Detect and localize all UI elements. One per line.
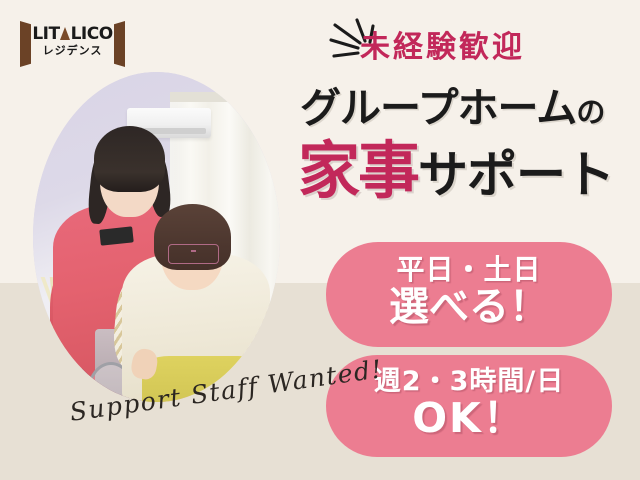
hero-photo [33,72,280,402]
headline-line-1-main: グループホーム [300,84,576,132]
weekday-weekend-pill-top: 平日・土日 [326,255,612,285]
hours-ok-pill-big: OK！ [326,396,612,442]
logo-wordmark-post: LICO [71,24,113,44]
headline-line-2: 家事サポート [298,140,614,202]
logo-subtitle: レジデンス [20,46,125,57]
weekday-weekend-pill[interactable]: 平日・土日 選べる！ [326,242,612,347]
headline-line-2-rest: サポート [418,146,614,204]
headline-kicker: 未経験歓迎 [360,33,525,63]
recruitment-banner: LITALICO レジデンス [0,0,640,480]
headline-line-1: グループホームの [300,88,604,129]
logo-wordmark-pre: LIT [32,24,59,44]
photo-caregiver-hair [94,126,166,192]
weekday-weekend-pill-big: 選べる！ [326,285,612,330]
headline-line-1-particle: の [576,95,604,129]
headline-line-2-accent: 家事 [298,134,418,207]
litalico-residence-logo[interactable]: LITALICO レジデンス [20,18,125,70]
house-roof-icon: A [60,26,71,43]
logo-wordmark: LITALICO [20,26,125,43]
photo-resident-glasses [168,244,219,264]
